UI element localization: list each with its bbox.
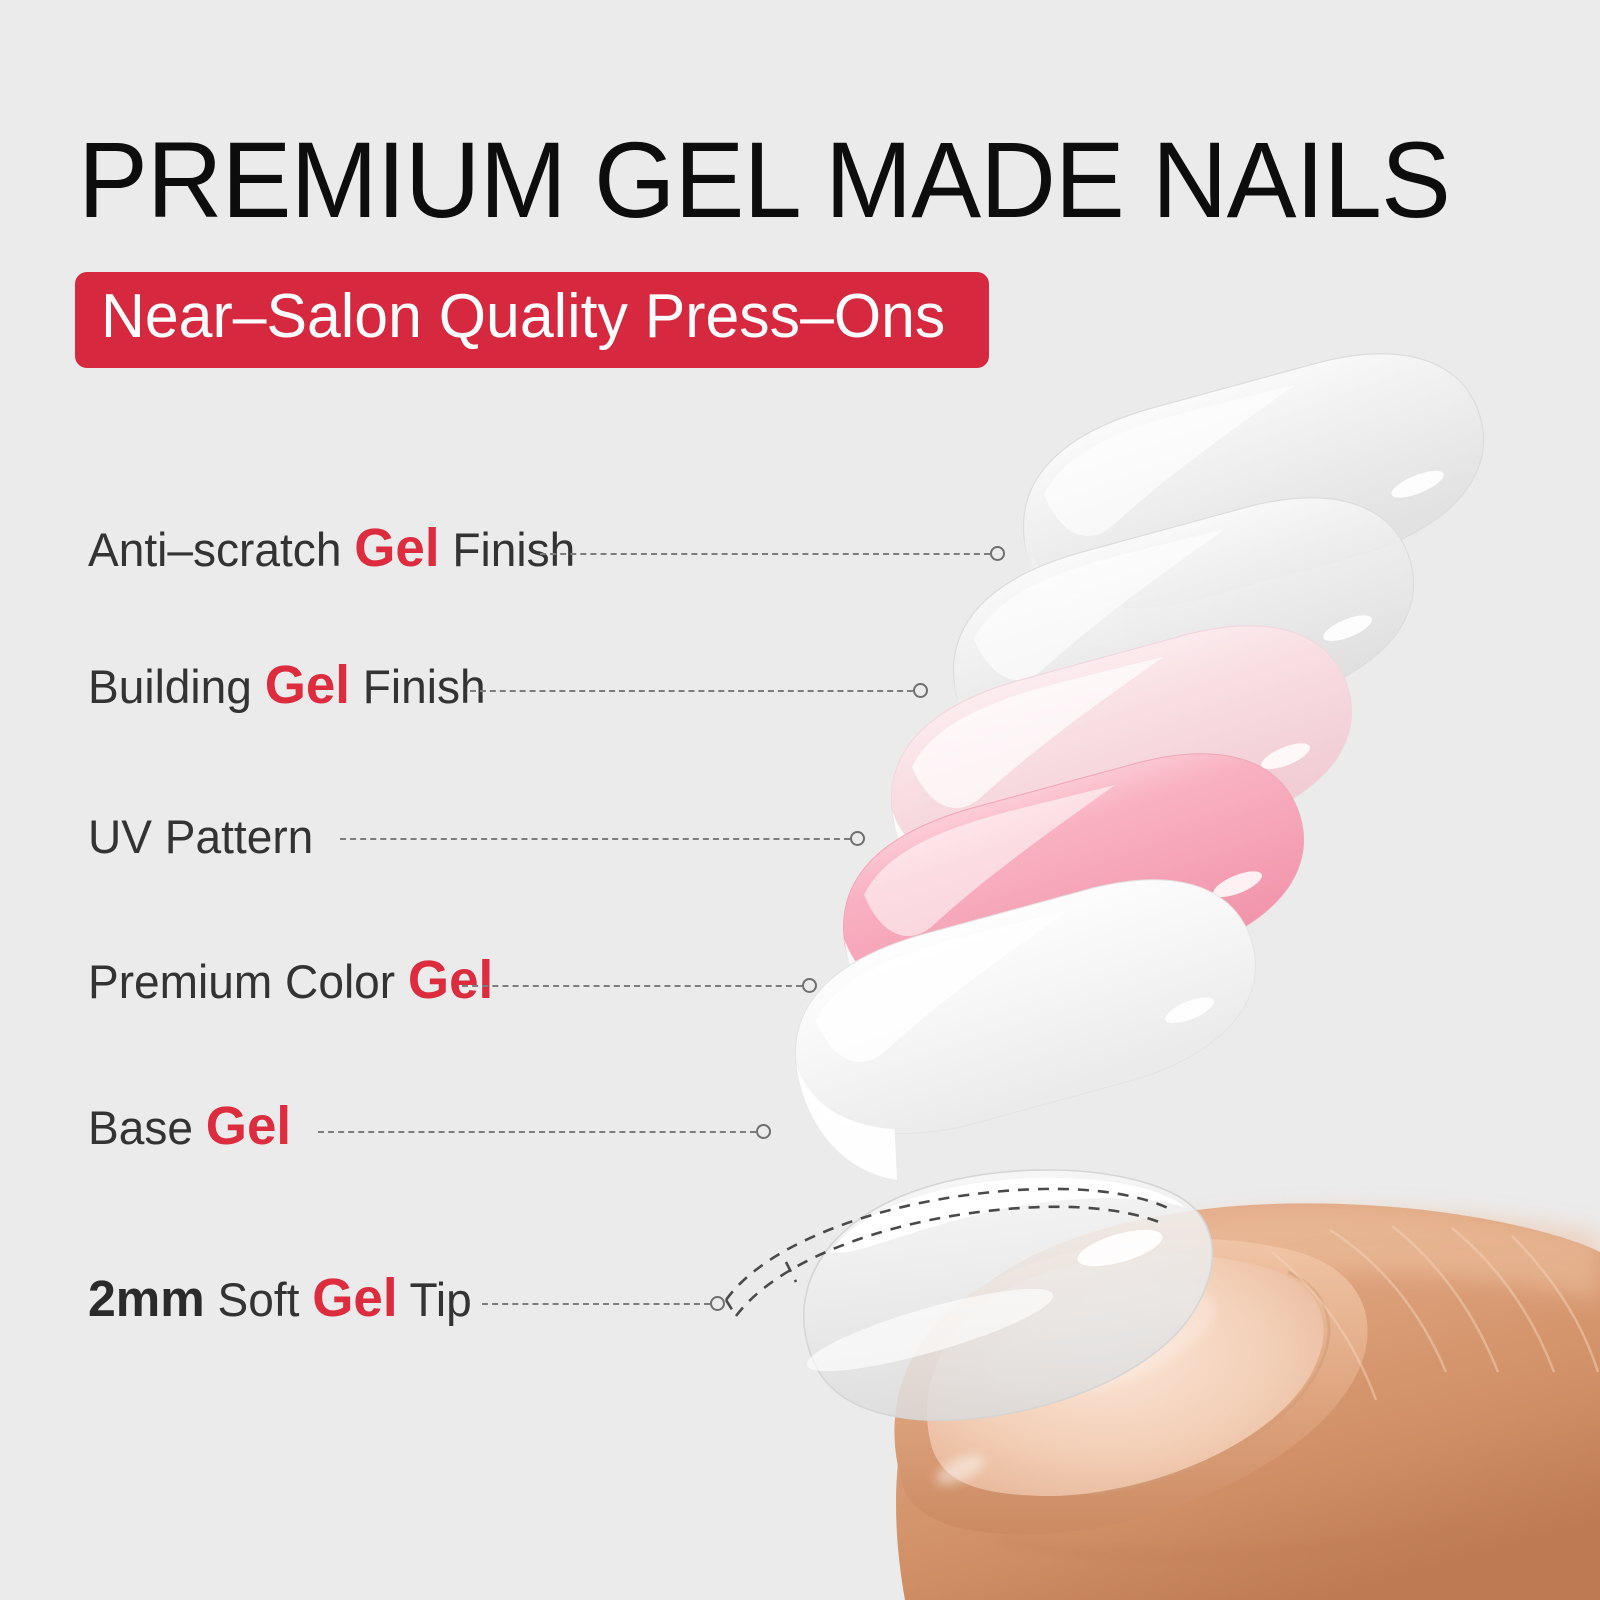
leader-endpoint-soft-gel-tip <box>710 1296 725 1311</box>
leader-line-base-gel <box>318 1131 756 1133</box>
label-segment: Base <box>88 1101 206 1154</box>
label-segment: Finish <box>350 660 486 713</box>
label-segment: Building <box>88 660 265 713</box>
leader-line-soft-gel-tip <box>482 1303 710 1305</box>
label-segment: Anti–scratch <box>88 523 354 576</box>
finger-illustration <box>894 1203 1600 1600</box>
leader-endpoint-uv-pattern <box>850 831 865 846</box>
callout-label-uv-pattern: UV Pattern <box>88 813 313 860</box>
label-segment: Gel <box>206 1096 291 1156</box>
leader-line-anti-scratch-gel-finish <box>540 553 990 555</box>
label-segment: Soft <box>205 1273 313 1326</box>
callout-label-premium-color-gel: Premium Color Gel <box>88 953 493 1007</box>
label-segment: Gel <box>265 655 350 715</box>
layer-shape-building-gel-finish <box>929 472 1445 815</box>
infographic-canvas: PREMIUM GEL MADE NAILS Near–Salon Qualit… <box>0 0 1600 1600</box>
layer-shape-anti-scratch-gel-finish <box>999 328 1515 671</box>
layer-shape-soft-gel-tip <box>801 1170 1212 1420</box>
label-segment: Premium Color <box>88 955 408 1008</box>
leader-endpoint-anti-scratch-gel-finish <box>990 546 1005 561</box>
layer-shape-uv-pattern <box>867 600 1383 943</box>
leader-line-premium-color-gel <box>462 985 802 987</box>
label-segment: Finish <box>440 523 576 576</box>
label-segment: Tip <box>398 1273 472 1326</box>
callout-label-base-gel: Base Gel <box>88 1099 291 1153</box>
nail-layer-stack-illustration <box>0 0 1600 1600</box>
label-segment: UV Pattern <box>88 810 313 863</box>
callout-label-soft-gel-tip: 2mm Soft Gel Tip <box>88 1271 472 1325</box>
tip-thickness-callout <box>726 1189 1168 1316</box>
label-segment: Gel <box>312 1268 397 1328</box>
layer-shape-premium-color-gel <box>819 728 1335 1071</box>
callout-label-anti-scratch-gel-finish: Anti–scratch Gel Finish <box>88 521 575 575</box>
leader-line-uv-pattern <box>340 838 850 840</box>
label-segment: Gel <box>354 518 439 578</box>
subtitle-badge-label: Near–Salon Quality Press–Ons <box>101 286 945 348</box>
page-title: PREMIUM GEL MADE NAILS <box>78 126 1450 234</box>
callout-label-building-gel-finish: Building Gel Finish <box>88 658 486 712</box>
leader-endpoint-base-gel <box>756 1124 771 1139</box>
label-segment: Gel <box>408 950 493 1010</box>
subtitle-badge: Near–Salon Quality Press–Ons <box>75 272 989 368</box>
leader-line-building-gel-finish <box>470 690 913 692</box>
leader-endpoint-premium-color-gel <box>802 978 817 993</box>
layer-shape-base-gel <box>771 854 1287 1197</box>
label-segment: 2mm <box>88 1270 205 1327</box>
leader-endpoint-building-gel-finish <box>913 683 928 698</box>
